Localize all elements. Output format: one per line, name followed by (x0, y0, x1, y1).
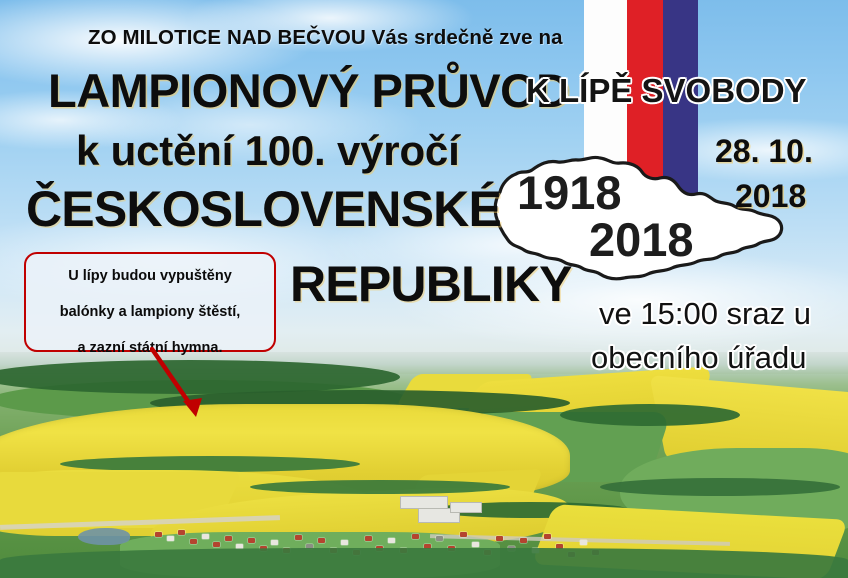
note-speech-bubble: U lípy budou vypuštěny balónky a lampion… (24, 252, 276, 352)
organizer-line: ZO MILOTICE NAD BEČVOU Vás srdečně zve n… (88, 26, 563, 50)
pond (78, 528, 130, 545)
event-date-day: 28. 10. (715, 133, 813, 170)
note-line-1: U lípy budou vypuštěny (26, 254, 274, 290)
note-line-2: balónky a lampiony štěstí, (26, 290, 274, 326)
meeting-time-line: ve 15:00 sraz u (599, 296, 811, 332)
tree-line (560, 404, 740, 426)
event-date-year: 2018 (735, 178, 806, 215)
meeting-place-line: obecního úřadu (591, 340, 806, 376)
title-main: LAMPIONOVÝ PRŮVOD (48, 63, 570, 118)
republic-line-1: ČESKOSLOVENSKÉ (26, 180, 501, 238)
republic-line-2: REPUBLIKY (290, 255, 572, 313)
title-suffix: K LÍPĚ SVOBODY (526, 72, 807, 110)
poster-canvas: ZO MILOTICE NAD BEČVOU Vás srdečně zve n… (0, 0, 848, 578)
anniversary-year-to: 2018 (589, 212, 694, 267)
large-building (450, 502, 482, 513)
tree-line (600, 478, 840, 496)
subtitle-line: k uctění 100. výročí (76, 127, 460, 175)
aerial-village-landscape-photo (0, 352, 848, 578)
foreground-tree-line (0, 548, 848, 578)
bubble-pointer-arrow (150, 345, 280, 425)
